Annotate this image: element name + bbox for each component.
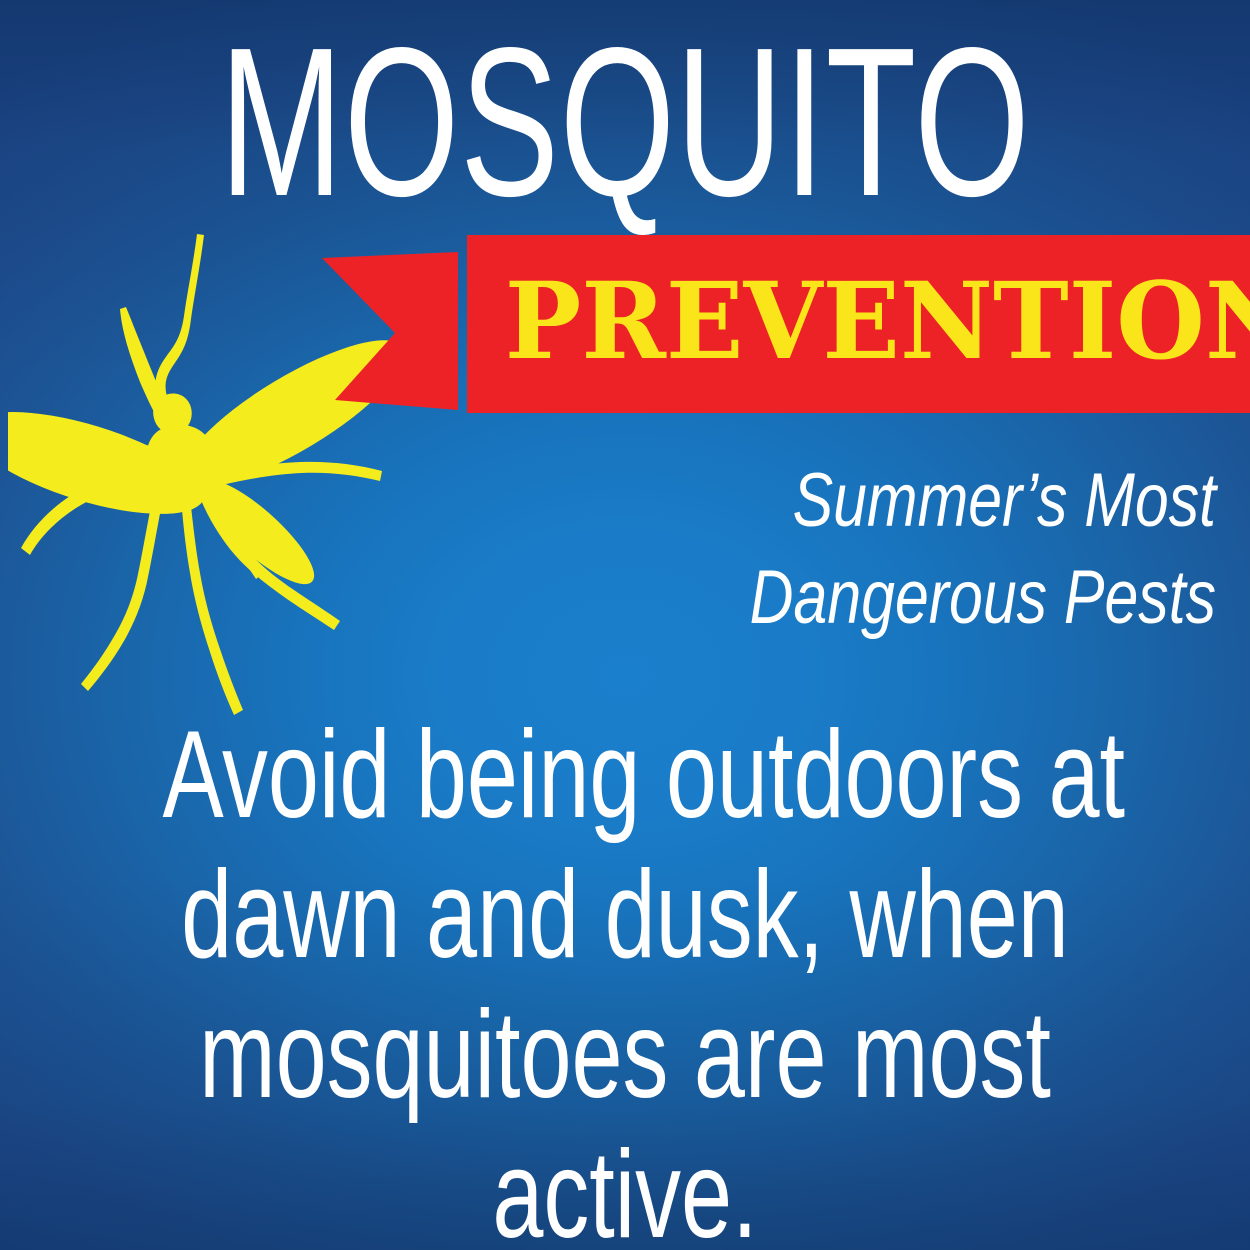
page-title: MOSQUITO: [188, 16, 1063, 228]
message-line-1: Avoid being outdoors at: [163, 705, 1088, 845]
subtitle-line-2: Dangerous Pests: [592, 549, 1216, 646]
subtitle-line-1: Summer’s Most: [592, 452, 1216, 549]
message-line-4: active.: [163, 1125, 1088, 1250]
message-line-3: mosquitoes are most: [163, 985, 1088, 1125]
subtitle: Summer’s Most Dangerous Pests: [592, 452, 1216, 647]
message-line-2: dawn and dusk, when: [163, 845, 1088, 985]
mosquito-prevention-poster: MOSQUITO: [0, 0, 1250, 1250]
banner-label: PREVENTION: [505, 268, 1215, 374]
message-body: Avoid being outdoors at dawn and dusk, w…: [163, 705, 1088, 1250]
